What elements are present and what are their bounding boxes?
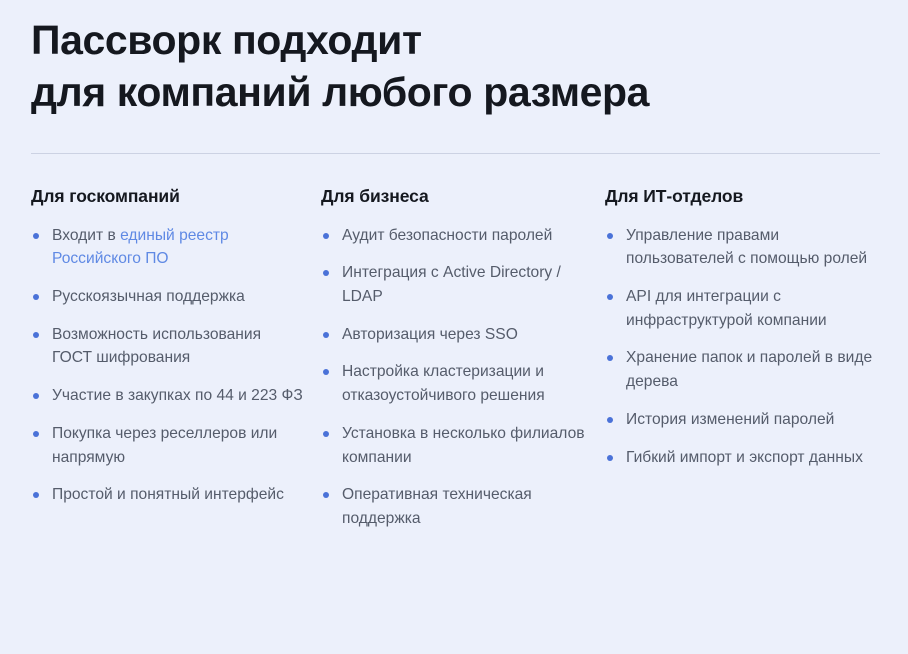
list-item-text: Интеграция с Active Directory / LDAP [342,264,561,305]
list-item: Возможность использования ГОСТ шифровани… [31,323,303,370]
list-item-text: Хранение папок и паролей в виде дерева [626,349,872,390]
bullet-dot-icon [323,332,329,338]
list-item: Русскоязычная поддержка [31,285,303,309]
section-divider [31,153,880,154]
list-item-text: Установка в несколько филиалов компании [342,425,585,466]
bullet-dot-icon [33,431,39,437]
bullet-dot-icon [607,355,613,361]
list-item: Гибкий импорт и экспорт данных [605,446,877,470]
feature-column-title: Для госкомпаний [31,185,303,208]
list-item: Участие в закупках по 44 и 223 ФЗ [31,384,303,408]
marketing-section: Пассворк подходит для компаний любого ра… [0,0,908,654]
bullet-dot-icon [607,294,613,300]
list-item: Управление правами пользователей с помощ… [605,224,877,271]
bullet-dot-icon [607,233,613,239]
feature-column: Для ИТ-отделовУправление правами пользов… [605,185,877,469]
list-item: Простой и понятный интерфейс [31,483,303,507]
list-item-text: API для интеграции с инфраструктурой ком… [626,288,827,329]
list-item: Установка в несколько филиалов компании [321,422,587,469]
list-item-text: Гибкий импорт и экспорт данных [626,449,863,466]
bullet-dot-icon [323,492,329,498]
feature-column-title: Для ИТ-отделов [605,185,877,208]
list-item-text: История изменений паролей [626,411,834,428]
list-item-text: Русскоязычная поддержка [52,288,245,305]
page-title: Пассворк подходит для компаний любого ра… [31,0,877,119]
list-item-text: Участие в закупках по 44 и 223 ФЗ [52,387,303,404]
list-item: Входит в единый реестр Российского ПО [31,224,303,271]
feature-list: Входит в единый реестр Российского ПОРус… [31,224,303,507]
feature-column-title: Для бизнеса [321,185,587,208]
list-item: Настройка кластеризации и отказоустойчив… [321,360,587,407]
list-item: Авторизация через SSO [321,323,587,347]
bullet-dot-icon [323,270,329,276]
feature-column: Для госкомпанийВходит в единый реестр Ро… [31,185,321,507]
bullet-dot-icon [33,332,39,338]
list-item: API для интеграции с инфраструктурой ком… [605,285,877,332]
list-item-text: Входит в [52,227,120,244]
list-item: Оперативная техническая поддержка [321,483,587,530]
bullet-dot-icon [33,233,39,239]
feature-list: Управление правами пользователей с помощ… [605,224,877,470]
list-item-text: Простой и понятный интерфейс [52,486,284,503]
list-item: Интеграция с Active Directory / LDAP [321,261,587,308]
list-item-text: Аудит безопасности паролей [342,227,552,244]
bullet-dot-icon [33,294,39,300]
list-item-text: Оперативная техническая поддержка [342,486,532,527]
bullet-dot-icon [323,369,329,375]
list-item: Покупка через реселлеров или напрямую [31,422,303,469]
list-item-text: Настройка кластеризации и отказоустойчив… [342,363,545,404]
bullet-dot-icon [323,233,329,239]
feature-column: Для бизнесаАудит безопасности паролейИнт… [321,185,605,531]
feature-columns: Для госкомпанийВходит в единый реестр Ро… [31,185,877,531]
bullet-dot-icon [323,431,329,437]
list-item-text: Авторизация через SSO [342,326,518,343]
feature-list: Аудит безопасности паролейИнтеграция с A… [321,224,587,531]
list-item: Аудит безопасности паролей [321,224,587,248]
list-item: История изменений паролей [605,408,877,432]
bullet-dot-icon [607,455,613,461]
list-item: Хранение папок и паролей в виде дерева [605,346,877,393]
list-item-text: Покупка через реселлеров или напрямую [52,425,277,466]
bullet-dot-icon [33,492,39,498]
bullet-dot-icon [33,393,39,399]
list-item-text: Возможность использования ГОСТ шифровани… [52,326,261,367]
bullet-dot-icon [607,417,613,423]
list-item-text: Управление правами пользователей с помощ… [626,227,867,268]
